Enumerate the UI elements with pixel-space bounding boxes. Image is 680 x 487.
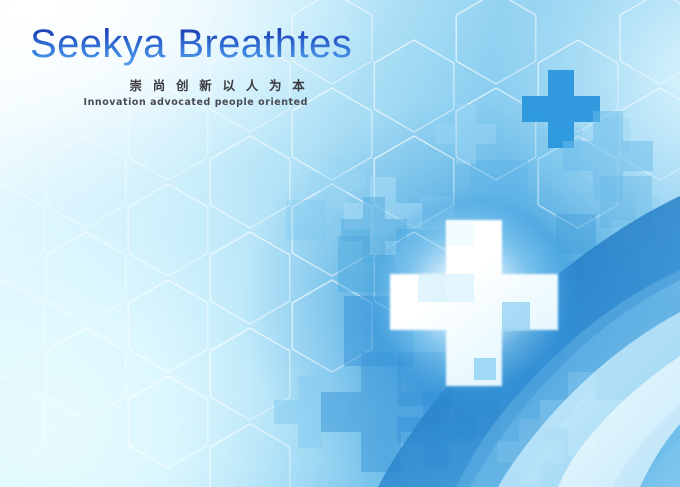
medical-cross-emblem: [368, 198, 578, 408]
brand-text-block: Seekya Breathtes 崇 尚 创 新 以 人 为 本 Innovat…: [0, 22, 360, 108]
cross-accent-4: [418, 274, 446, 302]
emblem-cross-shape: [368, 198, 578, 408]
tagline-chinese: 崇 尚 创 新 以 人 为 本: [0, 75, 360, 94]
cross-accent-1: [446, 274, 474, 302]
cross-accent-3: [474, 358, 496, 380]
page-title: Seekya Breathtes: [0, 22, 360, 66]
cross-accent-2: [502, 302, 530, 330]
cross-accent-5: [446, 220, 474, 246]
poster-canvas: Seekya Breathtes 崇 尚 创 新 以 人 为 本 Innovat…: [0, 0, 680, 487]
tagline-english: Innovation advocated people oriented: [0, 97, 360, 108]
